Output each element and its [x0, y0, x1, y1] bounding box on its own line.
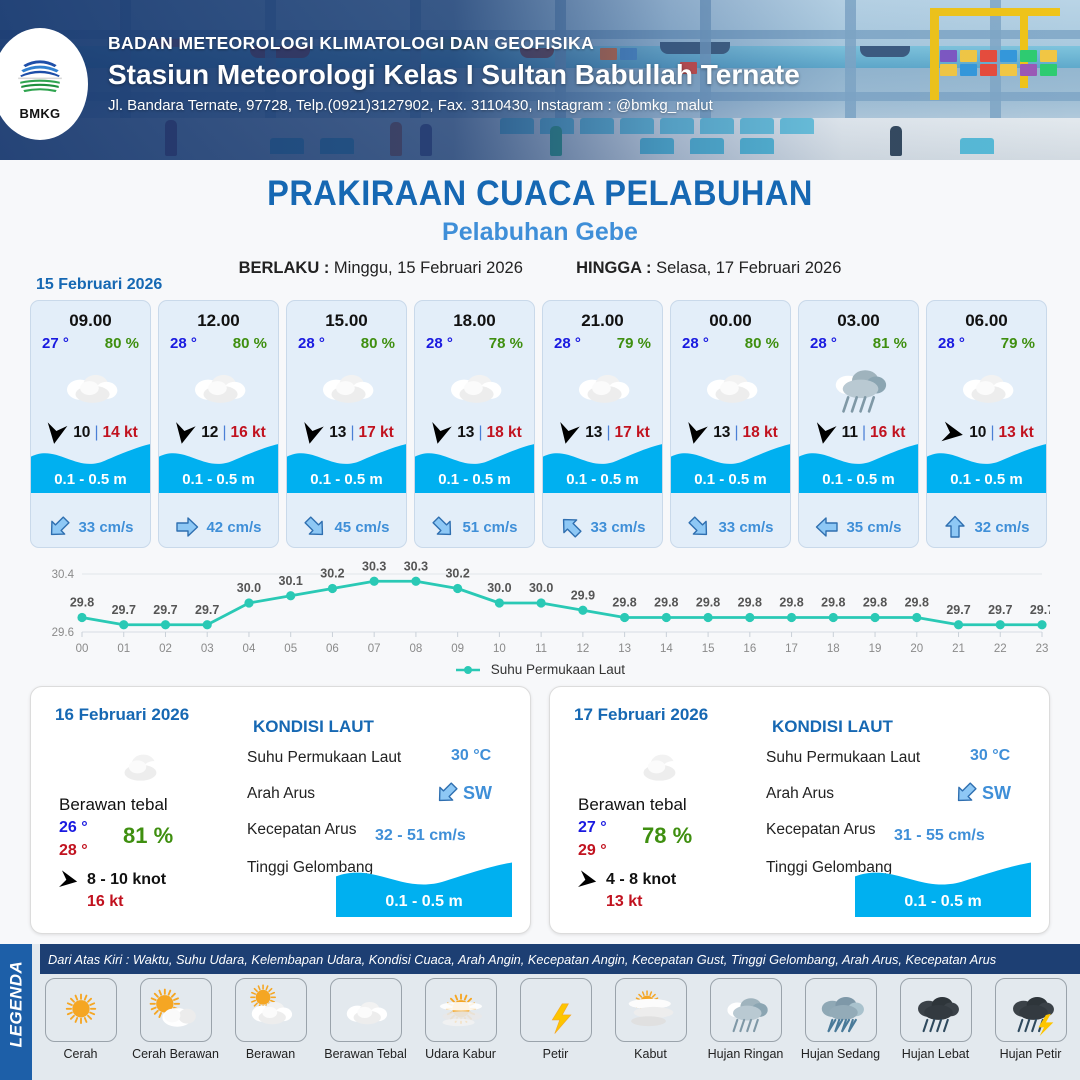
svg-text:30.2: 30.2: [320, 567, 344, 581]
chart-legend-marker-icon: [455, 664, 481, 676]
svg-text:13: 13: [618, 643, 631, 655]
current-direction-arrow-icon: [298, 510, 332, 544]
kabut-icon: [615, 978, 687, 1042]
panel-wind: 8 - 10 knot: [57, 869, 166, 891]
wave-height-value: 0.1 - 0.5 m: [31, 471, 150, 488]
berawan-tebal-icon: [612, 735, 704, 798]
forecast-day-label: 15 Februari 2026: [36, 276, 162, 294]
legend-sidebar: LEGENDA: [0, 944, 32, 1080]
wind-direction-degrees: 12: [201, 424, 218, 442]
svg-text:30.0: 30.0: [237, 581, 261, 595]
svg-text:22: 22: [994, 643, 1007, 655]
svg-text:29.6: 29.6: [52, 627, 74, 639]
svg-text:11: 11: [535, 643, 547, 655]
svg-text:29.7: 29.7: [946, 603, 970, 617]
panel-wind-range: 4 - 8 knot: [606, 871, 676, 889]
bmkg-logo-text: BMKG: [20, 106, 61, 121]
value-current-speed: 32 - 51 cm/s: [375, 827, 466, 845]
label-current-direction: Arah Arus: [247, 785, 315, 803]
svg-text:23: 23: [1036, 643, 1049, 655]
svg-text:29.7: 29.7: [195, 603, 219, 617]
current-direction-arrow-icon: [949, 776, 983, 810]
current-direction-text: SW: [463, 783, 492, 804]
valid-from-label: BERLAKU :: [239, 259, 330, 277]
hujan-ringan-icon: [799, 354, 918, 416]
wind-direction-degrees: 13: [457, 424, 474, 442]
forecast-temp-humidity: 28 ° 81 %: [799, 331, 918, 352]
forecast-current: 51 cm/s: [415, 515, 534, 539]
wind-direction-degrees: 13: [585, 424, 602, 442]
svg-text:20: 20: [910, 643, 923, 655]
daily-summary-panel: 17 Februari 2026 Berawan tebal 27 ° 29 °…: [549, 686, 1050, 934]
header-banner: BMKG BADAN METEOROLOGI KLIMATOLOGI DAN G…: [0, 0, 1080, 160]
forecast-current: 32 cm/s: [927, 515, 1046, 539]
current-direction-arrow-icon: [175, 515, 199, 539]
current-direction-arrow-icon: [42, 510, 76, 544]
value-wave-height: 0.1 - 0.5 m: [336, 859, 512, 917]
hujan-lebat-icon: [900, 978, 972, 1042]
current-speed-value: 35 cm/s: [846, 519, 901, 536]
svg-text:06: 06: [326, 643, 339, 655]
label-current-speed: Kecepatan Arus: [766, 821, 875, 839]
station-contact: Jl. Bandara Ternate, 97728, Telp.(0921)3…: [108, 96, 800, 116]
forecast-card: 03.00 28 ° 81 % 11 | 16 kt 0.1 - 0.5 m 3…: [798, 300, 919, 548]
forecast-current: 45 cm/s: [287, 515, 406, 539]
current-direction-text: SW: [982, 783, 1011, 804]
hujan-ringan-icon: [710, 978, 782, 1042]
svg-text:29.8: 29.8: [612, 596, 636, 610]
wind-speed-gust: 14 kt: [102, 424, 137, 442]
legend-item-label: Hujan Ringan: [701, 1047, 790, 1061]
svg-text:30.3: 30.3: [404, 560, 428, 573]
daily-summary-panels: 16 Februari 2026 Berawan tebal 26 ° 28 °…: [30, 686, 1050, 934]
svg-text:29.8: 29.8: [696, 596, 720, 610]
hujan-petir-icon: [995, 978, 1067, 1042]
current-direction-arrow-icon: [943, 515, 967, 539]
svg-text:07: 07: [368, 643, 381, 655]
forecast-temperature: 28 °: [298, 335, 325, 352]
panel-condition: Berawan tebal: [578, 795, 687, 815]
forecast-card: 09.00 27 ° 80 % 10 | 14 kt 0.1 - 0.5 m 3…: [30, 300, 151, 548]
svg-text:30.2: 30.2: [445, 567, 469, 581]
forecast-humidity: 80 %: [745, 335, 779, 352]
forecast-humidity: 80 %: [361, 335, 395, 352]
forecast-humidity: 79 %: [617, 335, 651, 352]
hujan-sedang-icon: [805, 978, 877, 1042]
forecast-wave-height: 0.1 - 0.5 m: [671, 441, 790, 493]
forecast-wave-height: 0.1 - 0.5 m: [543, 441, 662, 493]
svg-text:03: 03: [201, 643, 214, 655]
legend-item: Hujan Lebat: [891, 978, 980, 1061]
forecast-wave-height: 0.1 - 0.5 m: [159, 441, 278, 493]
forecast-temperature: 28 °: [810, 335, 837, 352]
legend-item: Petir: [511, 978, 600, 1061]
berawan-tebal-icon: [330, 978, 402, 1042]
panel-temp-min: 27 °: [578, 819, 607, 837]
current-speed-value: 32 cm/s: [974, 519, 1029, 536]
berawan-tebal-icon: [671, 354, 790, 416]
current-direction-arrow-icon: [815, 515, 839, 539]
weather-forecast-poster: BMKG BADAN METEOROLOGI KLIMATOLOGI DAN G…: [0, 0, 1080, 1080]
forecast-humidity: 78 %: [489, 335, 523, 352]
forecast-card: 00.00 28 ° 80 % 13 | 18 kt 0.1 - 0.5 m 3…: [670, 300, 791, 548]
forecast-time: 00.00: [671, 301, 790, 331]
svg-text:29.8: 29.8: [821, 596, 845, 610]
legend-item-label: Hujan Sedang: [796, 1047, 885, 1061]
forecast-wave-height: 0.1 - 0.5 m: [287, 441, 406, 493]
forecast-temperature: 28 °: [426, 335, 453, 352]
value-current-direction: SW: [435, 781, 492, 805]
value-current-direction: SW: [954, 781, 1011, 805]
value-wave-height: 0.1 - 0.5 m: [855, 859, 1031, 917]
forecast-wave-height: 0.1 - 0.5 m: [927, 441, 1046, 493]
current-direction-arrow-icon: [426, 510, 460, 544]
panel-temp-max: 28 °: [59, 842, 88, 860]
wave-height-value: 0.1 - 0.5 m: [159, 471, 278, 488]
valid-until-value: Selasa, 17 Februari 2026: [656, 259, 841, 277]
wind-direction-degrees: 11: [842, 424, 858, 442]
forecast-current: 35 cm/s: [799, 515, 918, 539]
forecast-time: 09.00: [31, 301, 150, 331]
forecast-temperature: 28 °: [682, 335, 709, 352]
legend-item: Cerah Berawan: [131, 978, 220, 1061]
forecast-wave-height: 0.1 - 0.5 m: [799, 441, 918, 493]
berawan-tebal-icon: [159, 354, 278, 416]
forecast-temp-humidity: 28 ° 79 %: [927, 331, 1046, 352]
legend-item-label: Cerah Berawan: [131, 1047, 220, 1061]
wave-height-value: 0.1 - 0.5 m: [415, 471, 534, 488]
legend-item: Udara Kabur: [416, 978, 505, 1061]
svg-text:05: 05: [284, 643, 297, 655]
panel-condition: Berawan tebal: [59, 795, 168, 815]
legend-item: Cerah: [36, 978, 125, 1061]
forecast-wave-height: 0.1 - 0.5 m: [415, 441, 534, 493]
label-sst: Suhu Permukaan Laut: [247, 749, 401, 767]
berawan-tebal-icon: [415, 354, 534, 416]
wind-direction-arrow-icon: [55, 867, 80, 892]
wave-height-text: 0.1 - 0.5 m: [855, 893, 1031, 911]
forecast-time: 06.00: [927, 301, 1046, 331]
svg-text:30.0: 30.0: [487, 581, 511, 595]
title-block: PRAKIRAAN CUACA PELABUHAN Pelabuhan Gebe…: [0, 160, 1080, 278]
current-speed-value: 33 cm/s: [78, 519, 133, 536]
wind-speed-gust: 18 kt: [742, 424, 777, 442]
forecast-card: 18.00 28 ° 78 % 13 | 18 kt 0.1 - 0.5 m 5…: [414, 300, 535, 548]
wind-direction-arrow-icon: [574, 867, 599, 892]
svg-text:30.4: 30.4: [52, 569, 75, 581]
legend-item-label: Petir: [511, 1047, 600, 1061]
wave-height-value: 0.1 - 0.5 m: [543, 471, 662, 488]
svg-text:14: 14: [660, 643, 673, 655]
svg-text:01: 01: [117, 643, 130, 655]
svg-text:29.7: 29.7: [1030, 603, 1050, 617]
forecast-time: 21.00: [543, 301, 662, 331]
wind-speed-gust: 18 kt: [486, 424, 521, 442]
port-name: Pelabuhan Gebe: [0, 218, 1080, 247]
wind-direction-degrees: 13: [713, 424, 730, 442]
forecast-card: 21.00 28 ° 79 % 13 | 17 kt 0.1 - 0.5 m 3…: [542, 300, 663, 548]
label-sst: Suhu Permukaan Laut: [766, 749, 920, 767]
forecast-humidity: 80 %: [105, 335, 139, 352]
current-direction-arrow-icon: [554, 510, 588, 544]
panel-date: 17 Februari 2026: [574, 705, 708, 725]
wind-direction-degrees: 10: [969, 424, 986, 442]
wind-direction-degrees: 10: [73, 424, 90, 442]
hourly-forecast-row: 09.00 27 ° 80 % 10 | 14 kt 0.1 - 0.5 m 3…: [30, 300, 1050, 548]
forecast-temperature: 27 °: [42, 335, 69, 352]
svg-text:29.8: 29.8: [779, 596, 803, 610]
legend-item: Hujan Sedang: [796, 978, 885, 1061]
svg-text:02: 02: [159, 643, 172, 655]
panel-humidity: 81 %: [123, 823, 173, 849]
svg-text:08: 08: [410, 643, 423, 655]
current-speed-value: 42 cm/s: [206, 519, 261, 536]
panel-temp-min: 26 °: [59, 819, 88, 837]
legend-item: Hujan Ringan: [701, 978, 790, 1061]
forecast-humidity: 79 %: [1001, 335, 1035, 352]
berawan-icon: [235, 978, 307, 1042]
legend-section: LEGENDA Dari Atas Kiri : Waktu, Suhu Uda…: [0, 944, 1080, 1080]
forecast-time: 03.00: [799, 301, 918, 331]
daily-summary-panel: 16 Februari 2026 Berawan tebal 26 ° 28 °…: [30, 686, 531, 934]
chart-legend: Suhu Permukaan Laut: [0, 662, 1080, 677]
svg-text:29.7: 29.7: [153, 603, 177, 617]
panel-gust: 13 kt: [606, 893, 642, 911]
wind-speed-gust: 17 kt: [614, 424, 649, 442]
svg-text:29.7: 29.7: [112, 603, 136, 617]
svg-text:21: 21: [952, 643, 965, 655]
svg-text:00: 00: [76, 643, 89, 655]
forecast-current: 33 cm/s: [543, 515, 662, 539]
forecast-card: 15.00 28 ° 80 % 13 | 17 kt 0.1 - 0.5 m 4…: [286, 300, 407, 548]
udara-kabur-icon: [425, 978, 497, 1042]
legend-item-label: Hujan Petir: [986, 1047, 1075, 1061]
svg-text:30.3: 30.3: [362, 560, 386, 573]
legend-item: Hujan Petir: [986, 978, 1075, 1061]
legend-icon-row: Cerah Cerah Berawan Berawan Berawan Teba…: [36, 978, 1076, 1061]
legend-item-label: Udara Kabur: [416, 1047, 505, 1061]
forecast-humidity: 80 %: [233, 335, 267, 352]
forecast-time: 15.00: [287, 301, 406, 331]
current-direction-arrow-icon: [682, 510, 716, 544]
berawan-tebal-icon: [93, 735, 185, 798]
svg-text:10: 10: [493, 643, 506, 655]
forecast-temperature: 28 °: [170, 335, 197, 352]
legend-item-label: Berawan Tebal: [321, 1047, 410, 1061]
svg-text:29.8: 29.8: [738, 596, 762, 610]
forecast-time: 18.00: [415, 301, 534, 331]
wave-height-value: 0.1 - 0.5 m: [927, 471, 1046, 488]
current-speed-value: 45 cm/s: [334, 519, 389, 536]
forecast-current: 33 cm/s: [671, 515, 790, 539]
forecast-temperature: 28 °: [554, 335, 581, 352]
valid-from-value: Minggu, 15 Februari 2026: [334, 259, 523, 277]
panel-wind: 4 - 8 knot: [576, 869, 676, 891]
svg-text:29.8: 29.8: [863, 596, 887, 610]
current-speed-value: 33 cm/s: [718, 519, 773, 536]
svg-text:12: 12: [576, 643, 589, 655]
svg-text:30.0: 30.0: [529, 581, 553, 595]
forecast-current: 33 cm/s: [31, 515, 150, 539]
legend-note: Dari Atas Kiri : Waktu, Suhu Udara, Kele…: [40, 944, 1080, 974]
berawan-tebal-icon: [927, 354, 1046, 416]
label-current-speed: Kecepatan Arus: [247, 821, 356, 839]
berawan-tebal-icon: [31, 354, 150, 416]
station-name: Stasiun Meteorologi Kelas I Sultan Babul…: [108, 57, 800, 92]
header-text-block: BADAN METEOROLOGI KLIMATOLOGI DAN GEOFIS…: [108, 33, 800, 115]
value-sst: 30 °C: [970, 747, 1010, 765]
legend-item-label: Berawan: [226, 1047, 315, 1061]
cerah-icon: [45, 978, 117, 1042]
svg-text:29.8: 29.8: [654, 596, 678, 610]
page-title: PRAKIRAAN CUACA PELABUHAN: [38, 174, 1042, 214]
forecast-current: 42 cm/s: [159, 515, 278, 539]
current-speed-value: 51 cm/s: [462, 519, 517, 536]
panel-gust: 16 kt: [87, 893, 123, 911]
wind-speed-gust: 16 kt: [230, 424, 265, 442]
berawan-tebal-icon: [287, 354, 406, 416]
legend-item: Berawan Tebal: [321, 978, 410, 1061]
petir-icon: [520, 978, 592, 1042]
valid-until-label: HINGGA :: [576, 259, 651, 277]
legend-item: Kabut: [606, 978, 695, 1061]
panel-temp-max: 29 °: [578, 842, 607, 860]
wave-height-value: 0.1 - 0.5 m: [287, 471, 406, 488]
legend-item-label: Kabut: [606, 1047, 695, 1061]
wave-height-value: 0.1 - 0.5 m: [799, 471, 918, 488]
wind-speed-gust: 16 kt: [870, 424, 905, 442]
svg-text:29.7: 29.7: [988, 603, 1012, 617]
forecast-wave-height: 0.1 - 0.5 m: [31, 441, 150, 493]
panel-wind-range: 8 - 10 knot: [87, 871, 166, 889]
current-direction-arrow-icon: [430, 776, 464, 810]
panel-section-title: KONDISI LAUT: [772, 717, 893, 737]
forecast-temp-humidity: 27 ° 80 %: [31, 331, 150, 352]
svg-text:29.9: 29.9: [571, 588, 595, 602]
svg-text:29.8: 29.8: [70, 596, 94, 610]
cerah-berawan-icon: [140, 978, 212, 1042]
berawan-tebal-icon: [543, 354, 662, 416]
legend-item-label: Cerah: [36, 1047, 125, 1061]
forecast-temp-humidity: 28 ° 78 %: [415, 331, 534, 352]
chart-legend-label: Suhu Permukaan Laut: [491, 662, 625, 677]
label-current-direction: Arah Arus: [766, 785, 834, 803]
panel-section-title: KONDISI LAUT: [253, 717, 374, 737]
wave-height-text: 0.1 - 0.5 m: [336, 893, 512, 911]
svg-text:18: 18: [827, 643, 840, 655]
svg-text:17: 17: [785, 643, 798, 655]
forecast-humidity: 81 %: [873, 335, 907, 352]
forecast-temp-humidity: 28 ° 80 %: [159, 331, 278, 352]
value-sst: 30 °C: [451, 747, 491, 765]
svg-text:09: 09: [451, 643, 464, 655]
svg-text:04: 04: [243, 643, 256, 655]
forecast-card: 12.00 28 ° 80 % 12 | 16 kt 0.1 - 0.5 m 4…: [158, 300, 279, 548]
wave-height-value: 0.1 - 0.5 m: [671, 471, 790, 488]
svg-text:15: 15: [702, 643, 715, 655]
bmkg-logo-mark: [14, 47, 66, 105]
legend-item: Berawan: [226, 978, 315, 1061]
wind-speed-gust: 13 kt: [998, 424, 1033, 442]
wind-speed-gust: 17 kt: [358, 424, 393, 442]
forecast-card: 06.00 28 ° 79 % 10 | 13 kt 0.1 - 0.5 m 3…: [926, 300, 1047, 548]
forecast-temp-humidity: 28 ° 80 %: [287, 331, 406, 352]
wind-direction-degrees: 13: [329, 424, 346, 442]
legend-item-label: Hujan Lebat: [891, 1047, 980, 1061]
svg-text:16: 16: [743, 643, 756, 655]
forecast-time: 12.00: [159, 301, 278, 331]
current-speed-value: 33 cm/s: [590, 519, 645, 536]
forecast-temp-humidity: 28 ° 80 %: [671, 331, 790, 352]
legend-sidebar-title: LEGENDA: [7, 952, 27, 1057]
svg-text:29.8: 29.8: [905, 596, 929, 610]
forecast-temperature: 28 °: [938, 335, 965, 352]
svg-text:19: 19: [869, 643, 882, 655]
panel-date: 16 Februari 2026: [55, 705, 189, 725]
value-current-speed: 31 - 55 cm/s: [894, 827, 985, 845]
svg-text:30.1: 30.1: [279, 574, 303, 588]
forecast-temp-humidity: 28 ° 79 %: [543, 331, 662, 352]
agency-name: BADAN METEOROLOGI KLIMATOLOGI DAN GEOFIS…: [108, 33, 800, 55]
panel-humidity: 78 %: [642, 823, 692, 849]
